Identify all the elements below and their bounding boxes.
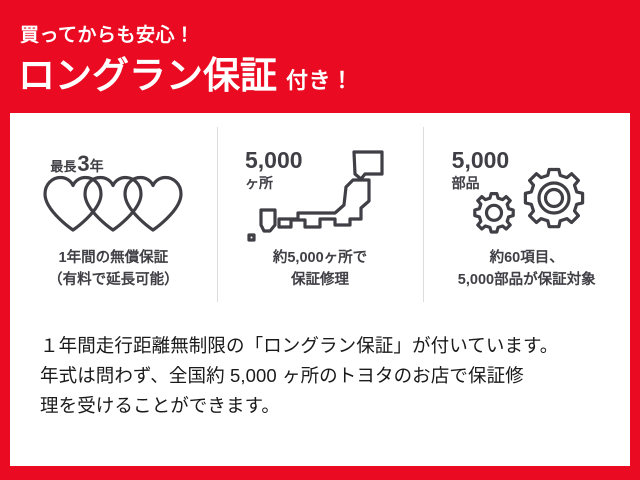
- max-years-unit: 年: [90, 159, 104, 173]
- max-years-number: 3: [77, 153, 89, 175]
- gears-icon: [450, 147, 610, 243]
- hearts-icon-block: 最長 3 年: [28, 145, 198, 243]
- description-line-2: 年式は問わず、全国約 5,000 ヶ所のトヨタのお店で保証修: [40, 361, 610, 391]
- feature-column-locations: 5,000 ヶ所: [217, 113, 424, 321]
- japan-map-icon: [243, 147, 403, 243]
- feature-caption-line1: 約60項目、: [458, 247, 596, 269]
- warranty-promo-page: 買ってからも安心！ ロングラン保証 付き！ 最長 3 年: [0, 0, 640, 480]
- banner-title-main: ロングラン保証: [18, 57, 277, 94]
- three-hearts-icon: [42, 173, 184, 235]
- feature-caption-parts: 約60項目、 5,000部品が保証対象: [458, 247, 596, 292]
- feature-caption-line2: （有料で延長可能）: [48, 269, 179, 291]
- description-line-3: 理を受けることができます。: [40, 391, 610, 421]
- description-line-1: １年間走行距離無制限の「ロングラン保証」が付いています。: [40, 331, 610, 361]
- banner-kicker-text: 買ってからも安心！: [20, 26, 195, 45]
- feature-column-parts: 5,000 部品: [423, 113, 630, 321]
- feature-caption-line1: 約5,000ヶ所で: [273, 247, 367, 269]
- max-years-prefix: 最長: [50, 160, 76, 173]
- description-paragraph: １年間走行距離無制限の「ロングラン保証」が付いています。 年式は問わず、全国約 …: [40, 331, 610, 421]
- japan-map-icon-block: 5,000 ヶ所: [235, 145, 405, 243]
- gears-icon-block: 5,000 部品: [442, 145, 612, 243]
- feature-caption-line2: 保証修理: [273, 269, 367, 291]
- banner-title-suffix: 付き！: [286, 70, 354, 92]
- feature-caption-warranty-period: 1年間の無償保証 （有料で延長可能）: [48, 247, 179, 292]
- header-banner: 買ってからも安心！ ロングラン保証 付き！: [0, 0, 640, 113]
- max-years-label: 最長 3 年: [50, 153, 103, 175]
- feature-caption-line2: 5,000部品が保証対象: [458, 269, 596, 291]
- feature-caption-line1: 1年間の無償保証: [48, 247, 179, 269]
- feature-column-warranty-period: 最長 3 年 1年間の無償保証 （有料で延長可能）: [10, 113, 217, 321]
- content-card: 最長 3 年 1年間の無償保証 （有料で延長可能）: [10, 113, 630, 466]
- banner-title: ロングラン保証 付き！: [18, 57, 354, 94]
- feature-columns: 最長 3 年 1年間の無償保証 （有料で延長可能）: [10, 113, 630, 321]
- feature-caption-locations: 約5,000ヶ所で 保証修理: [273, 247, 367, 292]
